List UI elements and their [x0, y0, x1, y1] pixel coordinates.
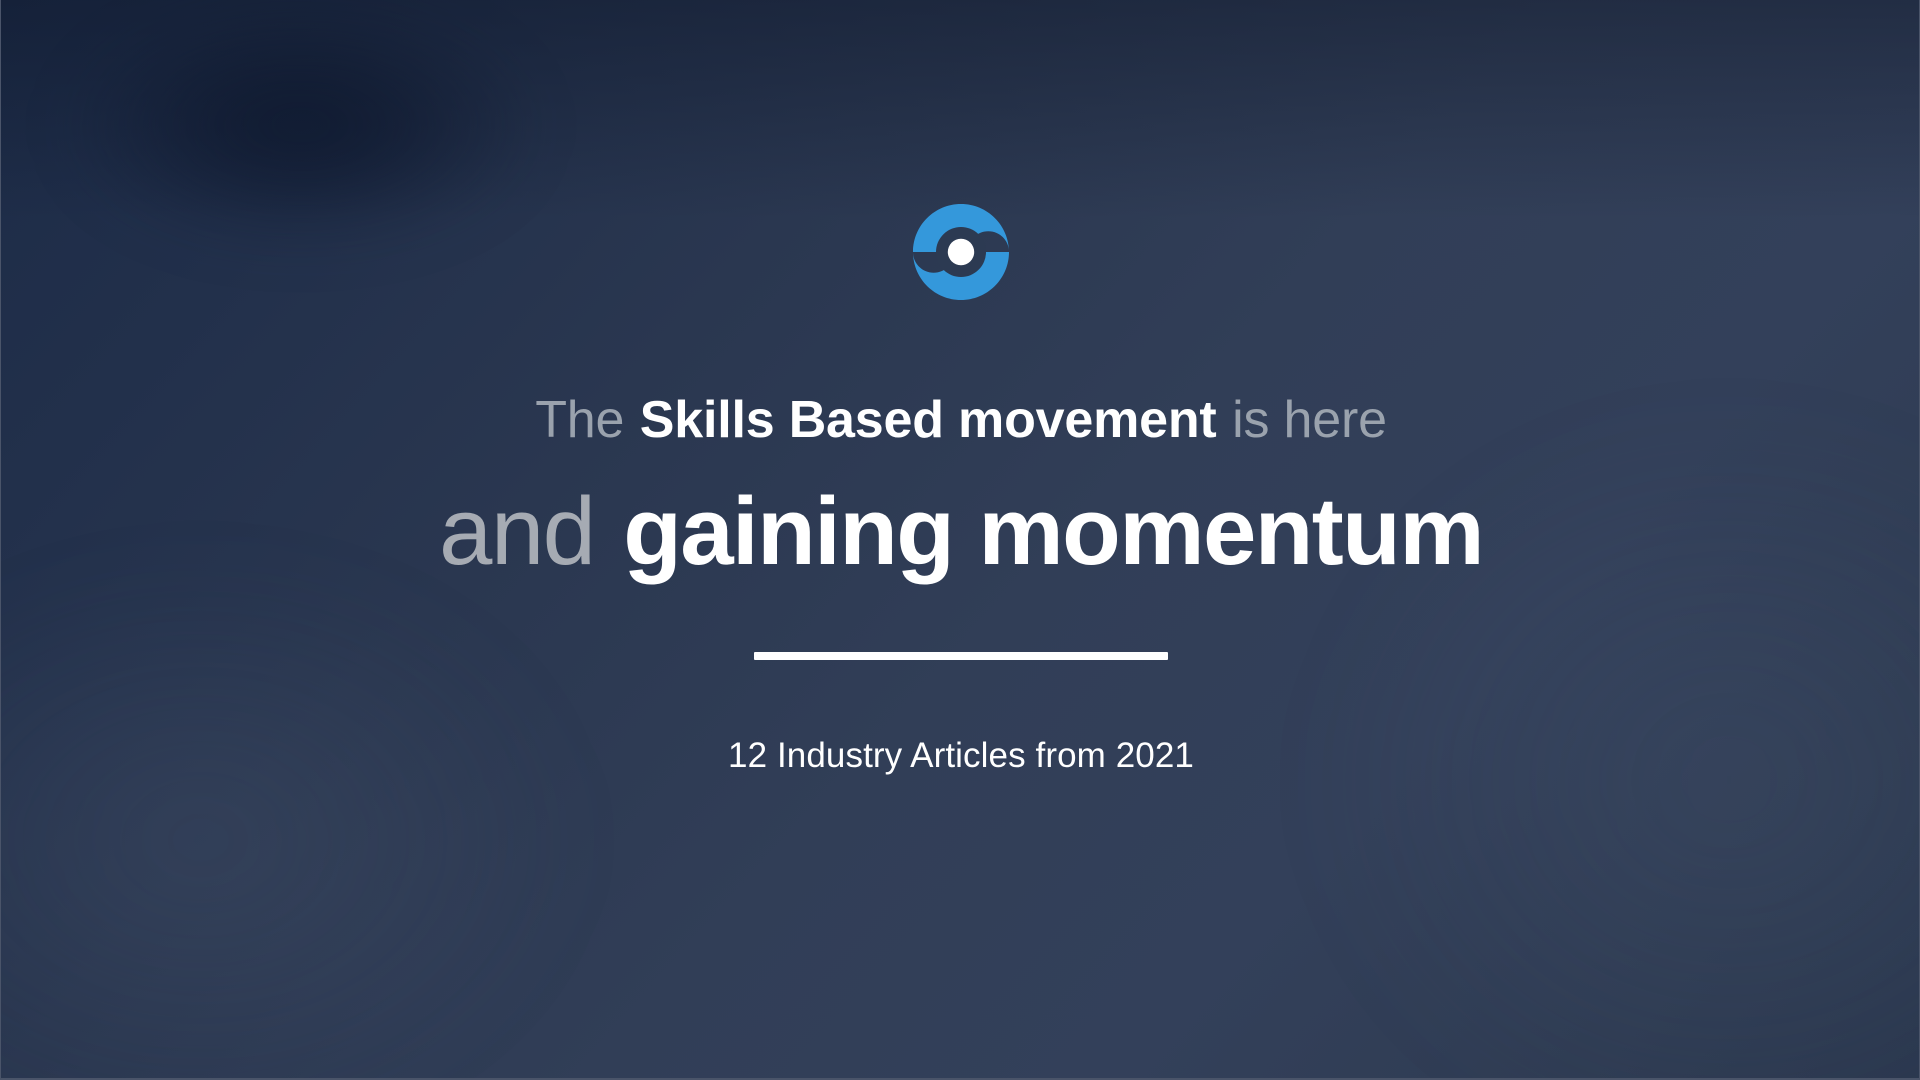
slide-content: TheSkills Based movementis here andgaini…: [1, 0, 1920, 1080]
headline-block: TheSkills Based movementis here andgaini…: [1, 394, 1920, 580]
headline-line2-prefix: and: [439, 478, 594, 585]
headline-line1-emphasis: Skills Based movement: [640, 391, 1217, 449]
slide-subtitle: 12 Industry Articles from 2021: [728, 736, 1194, 776]
title-slide: TheSkills Based movementis here andgaini…: [0, 0, 1920, 1080]
brand-logo: [905, 196, 1017, 308]
title-divider-rule: [754, 652, 1168, 660]
headline-line1-prefix: The: [535, 391, 624, 449]
spiral-s-logo-icon: [905, 196, 1017, 308]
headline-line-2: andgaining momentum: [1, 484, 1920, 580]
headline-line-1: TheSkills Based movementis here: [1, 394, 1920, 446]
headline-line1-suffix: is here: [1232, 391, 1387, 449]
headline-line2-emphasis: gaining momentum: [623, 478, 1483, 585]
